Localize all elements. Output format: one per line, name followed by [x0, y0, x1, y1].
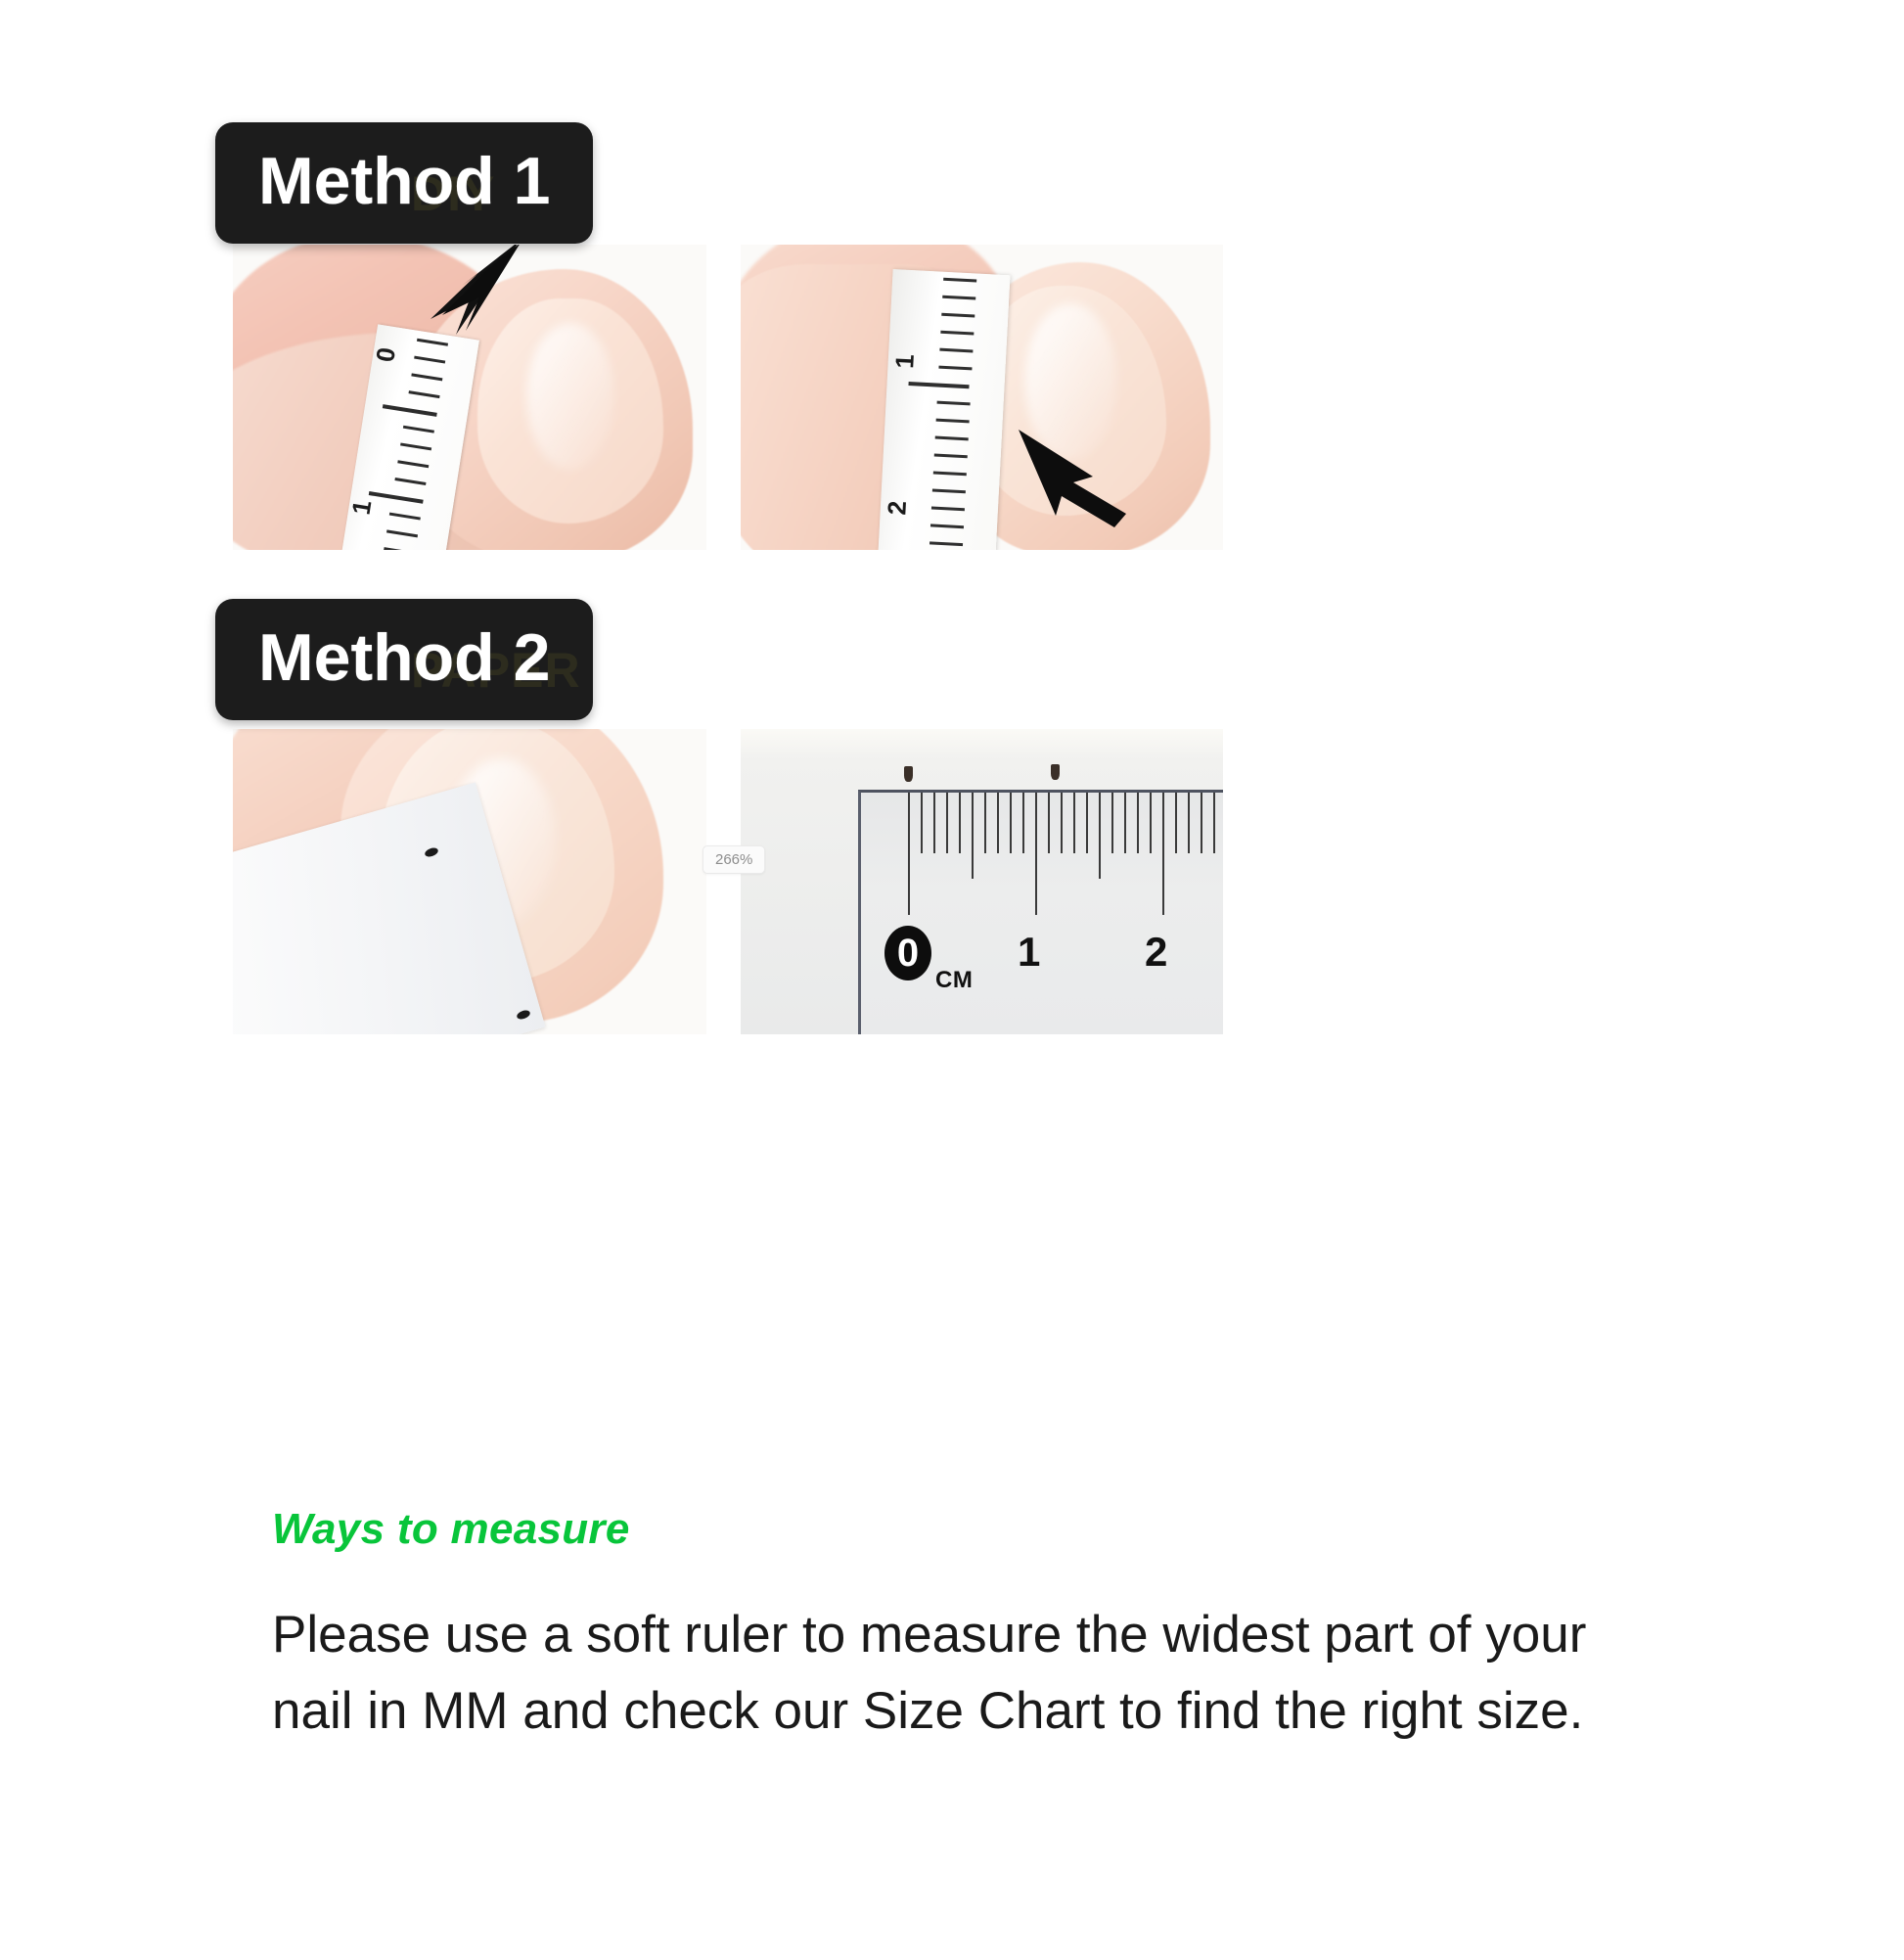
instructions-block: Ways to measure Please use a soft ruler … — [272, 1505, 1642, 1750]
instructions-body: Please use a soft ruler to measure the w… — [272, 1597, 1612, 1750]
ruler-label-1: 1 — [1018, 932, 1040, 973]
ruler-mark-left — [904, 766, 913, 782]
method-2-badge: PAPER Method 2 — [215, 599, 593, 720]
ruler-body: 0 CM 1 2 3 — [858, 790, 1223, 1034]
nail-highlight — [526, 323, 614, 470]
tape-number-1: 1 — [889, 353, 921, 369]
photo-plastic-ruler: 0 CM 1 2 3 — [741, 729, 1223, 1034]
tape-number-1: 1 — [345, 498, 378, 517]
method-1-badge: DIY Method 1 — [215, 122, 593, 244]
tape-number-0: 0 — [370, 345, 402, 364]
zoom-level-indicator: 266% — [703, 845, 765, 874]
method-2-photo-row: 0 CM 1 2 3 — [233, 729, 1223, 1034]
method-1-photo-row: 0 1 — [233, 245, 1223, 550]
method-2-label: Method 2 — [258, 620, 550, 695]
tape-number-2: 2 — [882, 500, 913, 516]
ruler-label-2: 2 — [1145, 932, 1167, 973]
photo-finger-with-soft-tape-wrapped: 1 2 — [741, 245, 1223, 550]
method-1-label: Method 1 — [258, 144, 550, 218]
pointer-arrow-icon — [427, 245, 534, 358]
measuring-guide-page: 0 1 — [0, 0, 1904, 1960]
photo-finger-with-paper-strip — [233, 729, 706, 1034]
ruler-mark-right — [1051, 764, 1060, 780]
instructions-heading: Ways to measure — [272, 1505, 1642, 1554]
ruler-label-0: 0 — [884, 926, 931, 980]
photo-finger-with-soft-tape-front: 0 1 — [233, 245, 706, 550]
ruler-unit-cm: CM — [935, 967, 973, 994]
pointer-arrow-icon — [1017, 426, 1144, 533]
soft-tape-measure: 1 2 — [878, 269, 1010, 550]
